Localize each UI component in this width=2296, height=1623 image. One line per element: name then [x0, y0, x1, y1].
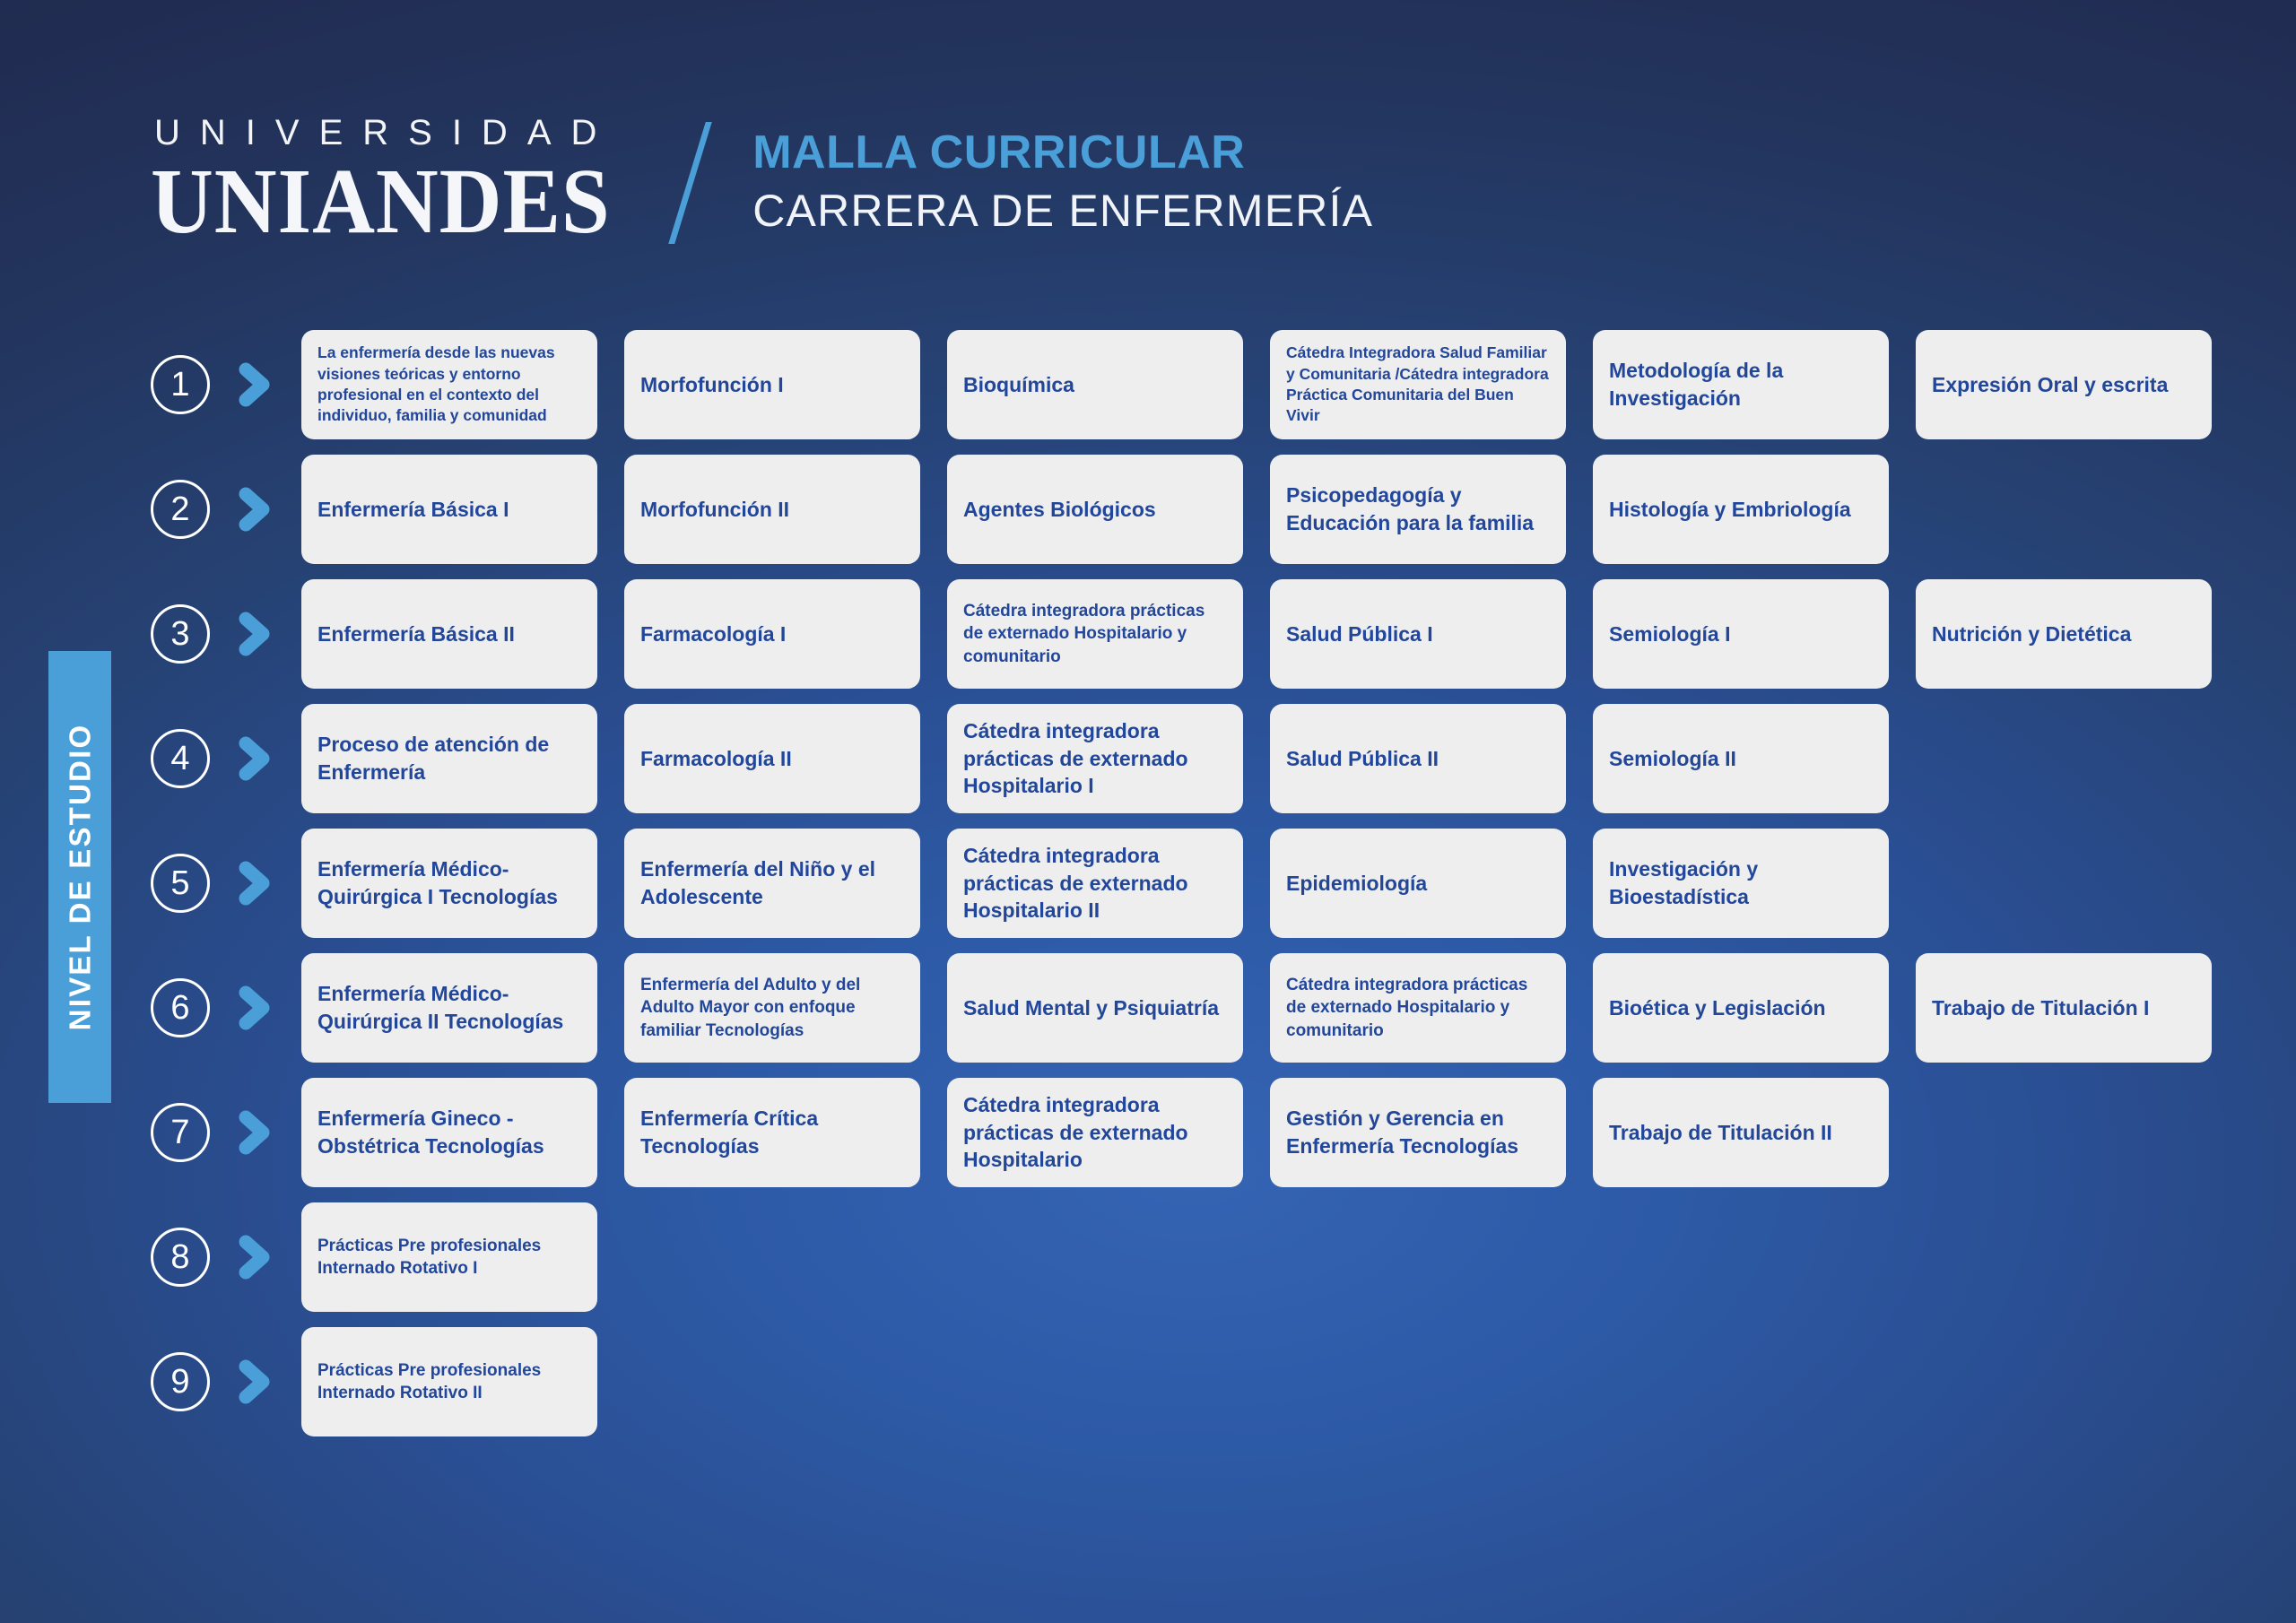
- course-card-label: Metodología de la Investigación: [1609, 357, 1873, 412]
- course-card-label: Psicopedagogía y Educación para la famil…: [1286, 482, 1550, 537]
- course-card[interactable]: La enfermería desde las nuevas visiones …: [301, 330, 597, 439]
- course-card[interactable]: Cátedra integradora prácticas de externa…: [947, 1078, 1243, 1187]
- course-card[interactable]: Nutrición y Dietética: [1916, 579, 2212, 689]
- course-card-label: Proceso de atención de Enfermería: [317, 731, 581, 786]
- course-card[interactable]: Semiología I: [1593, 579, 1889, 689]
- level-marker: 3: [151, 579, 301, 689]
- course-card[interactable]: Prácticas Pre profesionales Internado Ro…: [301, 1327, 597, 1436]
- curriculum-grid: 1La enfermería desde las nuevas visiones…: [151, 330, 2196, 1452]
- course-card[interactable]: Investigación y Bioestadística: [1593, 829, 1889, 938]
- course-card[interactable]: Proceso de atención de Enfermería: [301, 704, 597, 813]
- course-card-empty: [1916, 1202, 2212, 1312]
- course-card-label: Morfofunción I: [640, 371, 784, 399]
- curriculum-row: 7Enfermería Gineco - Obstétrica Tecnolog…: [151, 1078, 2196, 1202]
- course-card[interactable]: Bioética y Legislación: [1593, 953, 1889, 1063]
- course-card-empty: [624, 1327, 920, 1436]
- course-card-label: Prácticas Pre profesionales Internado Ro…: [317, 1235, 581, 1280]
- course-card-label: Cátedra integradora prácticas de externa…: [963, 717, 1227, 800]
- course-card-empty: [1270, 1327, 1566, 1436]
- course-card-group: Enfermería Básica IMorfofunción IIAgente…: [301, 455, 2212, 564]
- level-marker: 1: [151, 330, 301, 439]
- course-card-label: Morfofunción II: [640, 496, 789, 524]
- course-card[interactable]: Enfermería Básica I: [301, 455, 597, 564]
- course-card-empty: [1270, 1202, 1566, 1312]
- course-card-label: Salud Mental y Psiquiatría: [963, 994, 1219, 1022]
- course-card[interactable]: Histología y Embriología: [1593, 455, 1889, 564]
- course-card-label: Enfermería Crítica Tecnologías: [640, 1105, 904, 1160]
- level-number-badge: 5: [151, 854, 210, 913]
- course-card[interactable]: Enfermería del Adulto y del Adulto Mayor…: [624, 953, 920, 1063]
- course-card-empty: [624, 1202, 920, 1312]
- course-card-group: Enfermería Médico-Quirúrgica I Tecnologí…: [301, 829, 2212, 938]
- curriculum-row: 5Enfermería Médico-Quirúrgica I Tecnolog…: [151, 829, 2196, 953]
- title-carrera: CARRERA DE ENFERMERÍA: [752, 184, 1373, 238]
- level-marker: 8: [151, 1202, 301, 1312]
- level-number-badge: 4: [151, 729, 210, 788]
- course-card-label: Farmacología I: [640, 621, 786, 648]
- course-card-label: Trabajo de Titulación II: [1609, 1119, 1832, 1147]
- course-card-label: Semiología I: [1609, 621, 1730, 648]
- course-card-empty: [1916, 455, 2212, 564]
- level-marker: 9: [151, 1327, 301, 1436]
- course-card-label: Bioquímica: [963, 371, 1074, 399]
- course-card-label: Enfermería Gineco - Obstétrica Tecnologí…: [317, 1105, 581, 1160]
- course-card-label: Cátedra integradora prácticas de externa…: [1286, 974, 1550, 1041]
- course-card[interactable]: Agentes Biológicos: [947, 455, 1243, 564]
- course-card-label: Histología y Embriología: [1609, 496, 1851, 524]
- course-card[interactable]: Morfofunción II: [624, 455, 920, 564]
- course-card-label: Enfermería Médico-Quirúrgica II Tecnolog…: [317, 980, 581, 1036]
- course-card-label: Agentes Biológicos: [963, 496, 1156, 524]
- chevron-right-icon: [235, 1359, 276, 1404]
- course-card[interactable]: Enfermería del Niño y el Adolescente: [624, 829, 920, 938]
- chevron-right-icon: [235, 736, 276, 781]
- course-card[interactable]: Psicopedagogía y Educación para la famil…: [1270, 455, 1566, 564]
- chevron-right-icon: [235, 1235, 276, 1280]
- course-card[interactable]: Enfermería Médico-Quirúrgica II Tecnolog…: [301, 953, 597, 1063]
- curriculum-row: 8Prácticas Pre profesionales Internado R…: [151, 1202, 2196, 1327]
- logo-universidad-text: UNIVERSIDAD: [151, 115, 645, 151]
- course-card-label: La enfermería desde las nuevas visiones …: [317, 343, 581, 426]
- curriculum-row: 1La enfermería desde las nuevas visiones…: [151, 330, 2196, 455]
- course-card-group: Enfermería Gineco - Obstétrica Tecnologí…: [301, 1078, 2212, 1187]
- course-card[interactable]: Salud Mental y Psiquiatría: [947, 953, 1243, 1063]
- level-marker: 5: [151, 829, 301, 938]
- course-card-label: Expresión Oral y escrita: [1932, 371, 2168, 399]
- nivel-de-estudio-bar: NIVEL DE ESTUDIO: [48, 651, 111, 1103]
- course-card-group: Prácticas Pre profesionales Internado Ro…: [301, 1327, 2212, 1436]
- course-card-empty: [947, 1202, 1243, 1312]
- course-card-empty: [1593, 1202, 1889, 1312]
- course-card-label: Enfermería Básica II: [317, 621, 515, 648]
- chevron-right-icon: [235, 362, 276, 407]
- course-card-group: Prácticas Pre profesionales Internado Ro…: [301, 1202, 2212, 1312]
- page-title: MALLA CURRICULAR CARRERA DE ENFERMERÍA: [752, 126, 1373, 238]
- course-card-label: Cátedra integradora prácticas de externa…: [963, 600, 1227, 667]
- course-card[interactable]: Salud Pública I: [1270, 579, 1566, 689]
- level-number-badge: 9: [151, 1352, 210, 1411]
- chevron-right-icon: [235, 612, 276, 656]
- course-card[interactable]: Bioquímica: [947, 330, 1243, 439]
- university-logo: UNIVERSIDAD UNIANDES: [151, 115, 645, 249]
- chevron-right-icon: [235, 985, 276, 1030]
- course-card-label: Farmacología II: [640, 745, 792, 773]
- course-card[interactable]: Morfofunción I: [624, 330, 920, 439]
- curriculum-row: 6Enfermería Médico-Quirúrgica II Tecnolo…: [151, 953, 2196, 1078]
- course-card[interactable]: Cátedra integradora prácticas de externa…: [947, 829, 1243, 938]
- course-card[interactable]: Trabajo de Titulación I: [1916, 953, 2212, 1063]
- chevron-right-icon: [235, 861, 276, 906]
- course-card[interactable]: Farmacología II: [624, 704, 920, 813]
- course-card-label: Trabajo de Titulación I: [1932, 994, 2149, 1022]
- nivel-de-estudio-label: NIVEL DE ESTUDIO: [63, 724, 97, 1031]
- curriculum-row: 4Proceso de atención de EnfermeríaFarmac…: [151, 704, 2196, 829]
- course-card-label: Cátedra integradora prácticas de externa…: [963, 1091, 1227, 1174]
- course-card-label: Cátedra integradora prácticas de externa…: [963, 842, 1227, 924]
- course-card-group: Proceso de atención de EnfermeríaFarmaco…: [301, 704, 2212, 813]
- course-card[interactable]: Enfermería Básica II: [301, 579, 597, 689]
- curriculum-row: 3Enfermería Básica IIFarmacología ICáted…: [151, 579, 2196, 704]
- course-card[interactable]: Expresión Oral y escrita: [1916, 330, 2212, 439]
- curriculum-row: 2Enfermería Básica IMorfofunción IIAgent…: [151, 455, 2196, 579]
- course-card-label: Salud Pública I: [1286, 621, 1433, 648]
- course-card-label: Bioética y Legislación: [1609, 994, 1826, 1022]
- course-card[interactable]: Epidemiología: [1270, 829, 1566, 938]
- level-marker: 6: [151, 953, 301, 1063]
- course-card-group: Enfermería Básica IIFarmacología ICátedr…: [301, 579, 2212, 689]
- course-card-empty: [947, 1327, 1243, 1436]
- course-card-label: Enfermería del Niño y el Adolescente: [640, 855, 904, 911]
- course-card-label: Semiología II: [1609, 745, 1736, 773]
- course-card[interactable]: Metodología de la Investigación: [1593, 330, 1889, 439]
- course-card-label: Epidemiología: [1286, 870, 1427, 898]
- course-card[interactable]: Cátedra integradora prácticas de externa…: [947, 579, 1243, 689]
- level-marker: 4: [151, 704, 301, 813]
- course-card[interactable]: Prácticas Pre profesionales Internado Ro…: [301, 1202, 597, 1312]
- course-card[interactable]: Enfermería Gineco - Obstétrica Tecnologí…: [301, 1078, 597, 1187]
- course-card[interactable]: Salud Pública II: [1270, 704, 1566, 813]
- diagonal-divider-icon: [645, 115, 744, 249]
- course-card-label: Nutrición y Dietética: [1932, 621, 2131, 648]
- course-card[interactable]: Cátedra integradora prácticas de externa…: [1270, 953, 1566, 1063]
- course-card-label: Cátedra Integradora Salud Familiar y Com…: [1286, 343, 1550, 426]
- page-header: UNIVERSIDAD UNIANDES MALLA CURRICULAR CA…: [151, 106, 1373, 258]
- level-number-badge: 3: [151, 604, 210, 664]
- course-card-empty: [1916, 829, 2212, 938]
- course-card[interactable]: Cátedra Integradora Salud Familiar y Com…: [1270, 330, 1566, 439]
- level-marker: 2: [151, 455, 301, 564]
- course-card[interactable]: Trabajo de Titulación II: [1593, 1078, 1889, 1187]
- level-number-badge: 2: [151, 480, 210, 539]
- chevron-right-icon: [235, 487, 276, 532]
- level-number-badge: 7: [151, 1103, 210, 1162]
- course-card[interactable]: Enfermería Crítica Tecnologías: [624, 1078, 920, 1187]
- course-card-empty: [1916, 704, 2212, 813]
- title-malla-curricular: MALLA CURRICULAR: [752, 126, 1373, 180]
- course-card[interactable]: Gestión y Gerencia en Enfermería Tecnolo…: [1270, 1078, 1566, 1187]
- course-card-label: Gestión y Gerencia en Enfermería Tecnolo…: [1286, 1105, 1550, 1160]
- level-number-badge: 1: [151, 355, 210, 414]
- course-card-empty: [1916, 1078, 2212, 1187]
- course-card[interactable]: Cátedra integradora prácticas de externa…: [947, 704, 1243, 813]
- course-card[interactable]: Farmacología I: [624, 579, 920, 689]
- logo-uniandes-text: UNIANDES: [151, 154, 611, 249]
- course-card-label: Enfermería del Adulto y del Adulto Mayor…: [640, 974, 904, 1041]
- course-card-empty: [1916, 1327, 2212, 1436]
- course-card[interactable]: Semiología II: [1593, 704, 1889, 813]
- level-number-badge: 8: [151, 1228, 210, 1287]
- course-card-label: Investigación y Bioestadística: [1609, 855, 1873, 911]
- course-card-empty: [1593, 1327, 1889, 1436]
- level-number-badge: 6: [151, 978, 210, 1037]
- course-card-group: Enfermería Médico-Quirúrgica II Tecnolog…: [301, 953, 2212, 1063]
- course-card-label: Enfermería Básica I: [317, 496, 509, 524]
- curriculum-row: 9Prácticas Pre profesionales Internado R…: [151, 1327, 2196, 1452]
- course-card-group: La enfermería desde las nuevas visiones …: [301, 330, 2212, 439]
- course-card-label: Prácticas Pre profesionales Internado Ro…: [317, 1359, 581, 1404]
- chevron-right-icon: [235, 1110, 276, 1155]
- course-card-label: Enfermería Médico-Quirúrgica I Tecnologí…: [317, 855, 581, 911]
- level-marker: 7: [151, 1078, 301, 1187]
- course-card[interactable]: Enfermería Médico-Quirúrgica I Tecnologí…: [301, 829, 597, 938]
- course-card-label: Salud Pública II: [1286, 745, 1439, 773]
